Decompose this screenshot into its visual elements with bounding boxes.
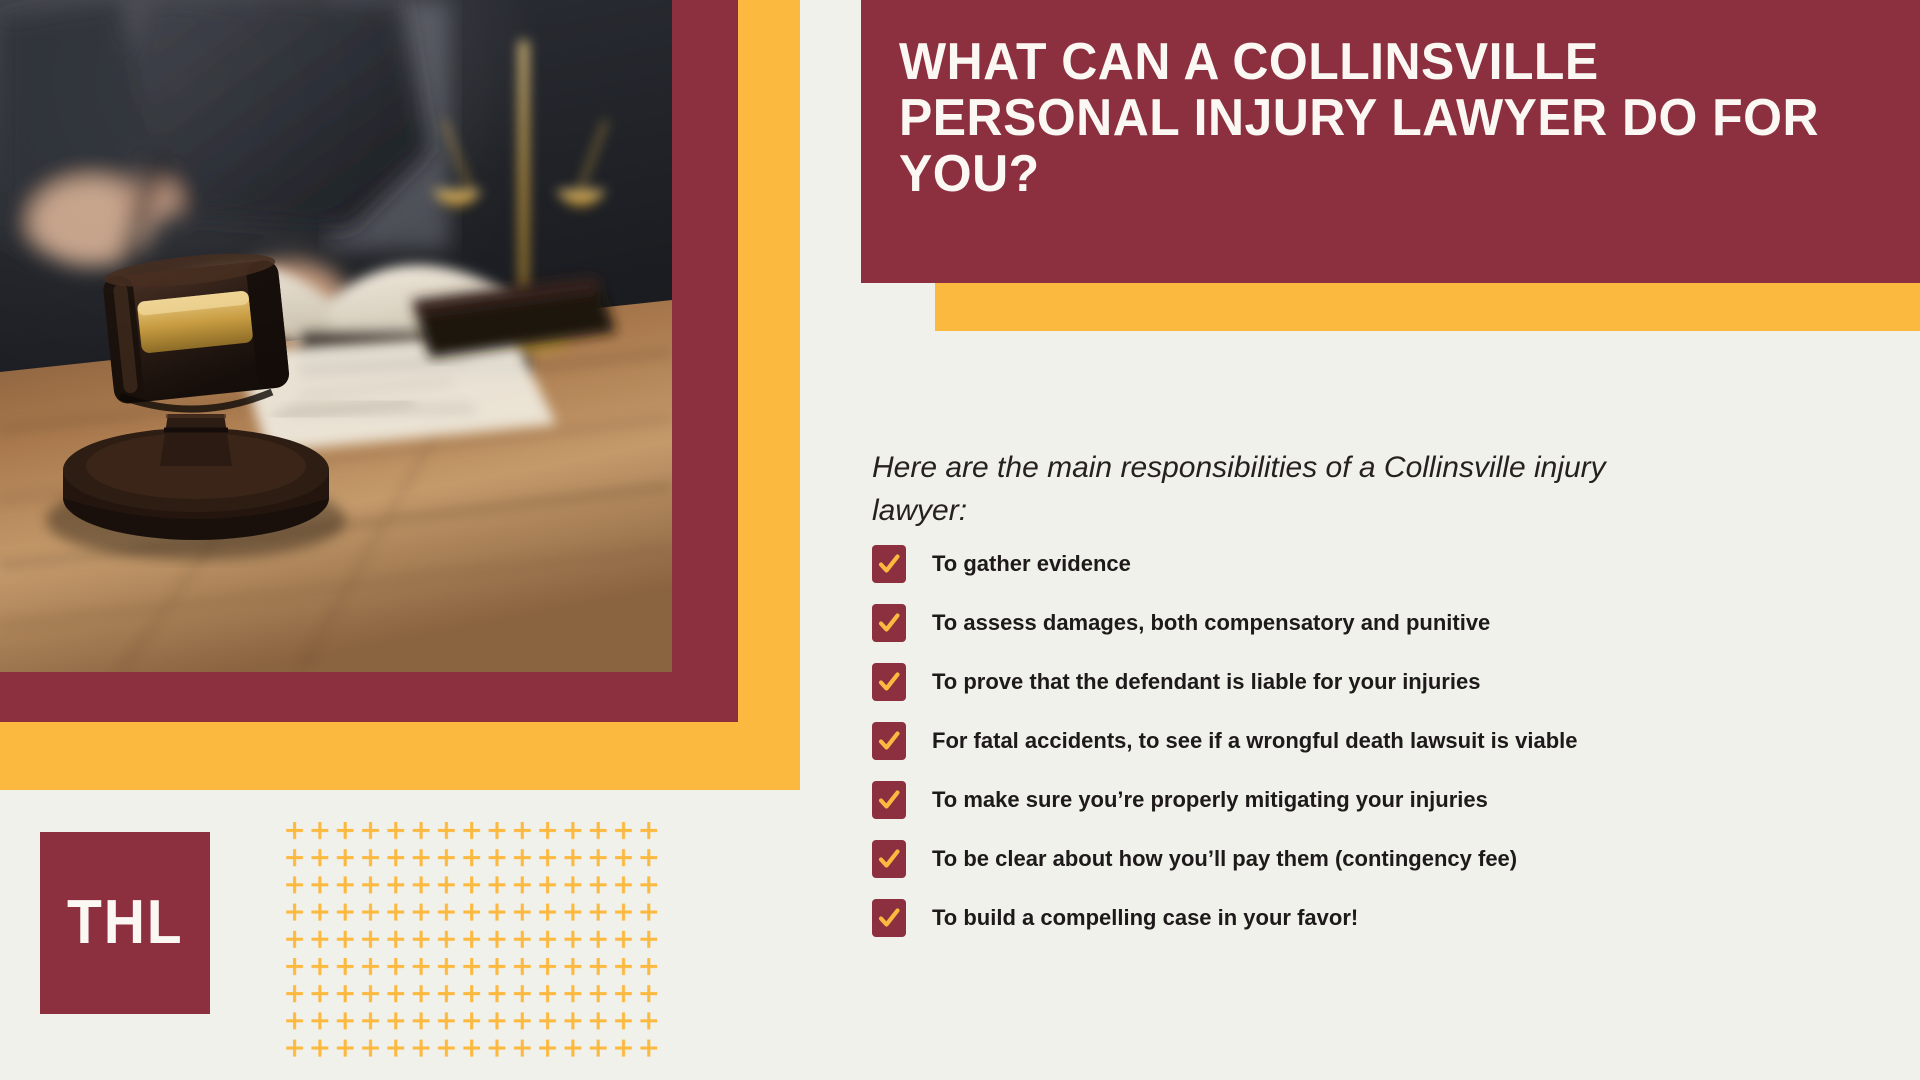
check-icon xyxy=(872,604,906,642)
title-accent-bar xyxy=(935,283,1920,331)
list-item-label: To be clear about how you’ll pay them (c… xyxy=(932,846,1517,872)
title-block: WHAT CAN A COLLINSVILLE PERSONAL INJURY … xyxy=(861,0,1920,283)
list-item-label: To make sure you’re properly mitigating … xyxy=(932,787,1488,813)
list-item-label: To prove that the defendant is liable fo… xyxy=(932,669,1480,695)
list-item: To be clear about how you’ll pay them (c… xyxy=(872,840,1892,878)
list-item: To make sure you’re properly mitigating … xyxy=(872,781,1892,819)
check-icon xyxy=(872,840,906,878)
check-icon xyxy=(872,899,906,937)
list-item: To assess damages, both compensatory and… xyxy=(872,604,1892,642)
list-item: For fatal accidents, to see if a wrongfu… xyxy=(872,722,1892,760)
list-item-label: To assess damages, both compensatory and… xyxy=(932,610,1490,636)
gavel-photo xyxy=(0,0,672,672)
intro-text: Here are the main responsibilities of a … xyxy=(872,447,1672,532)
plus-pattern-decoration xyxy=(283,820,663,1065)
check-icon xyxy=(872,545,906,583)
list-item: To prove that the defendant is liable fo… xyxy=(872,663,1892,701)
page-title: WHAT CAN A COLLINSVILLE PERSONAL INJURY … xyxy=(899,34,1854,202)
list-item-label: For fatal accidents, to see if a wrongfu… xyxy=(932,728,1578,754)
infographic-canvas: WHAT CAN A COLLINSVILLE PERSONAL INJURY … xyxy=(0,0,1920,1080)
responsibilities-checklist: To gather evidence To assess damages, bo… xyxy=(872,545,1892,937)
logo-text: THL xyxy=(67,892,183,954)
check-icon xyxy=(872,781,906,819)
thl-logo: THL xyxy=(40,832,210,1014)
list-item: To build a compelling case in your favor… xyxy=(872,899,1892,937)
list-item-label: To build a compelling case in your favor… xyxy=(932,905,1358,931)
list-item-label: To gather evidence xyxy=(932,551,1131,577)
check-icon xyxy=(872,722,906,760)
list-item: To gather evidence xyxy=(872,545,1892,583)
check-icon xyxy=(872,663,906,701)
